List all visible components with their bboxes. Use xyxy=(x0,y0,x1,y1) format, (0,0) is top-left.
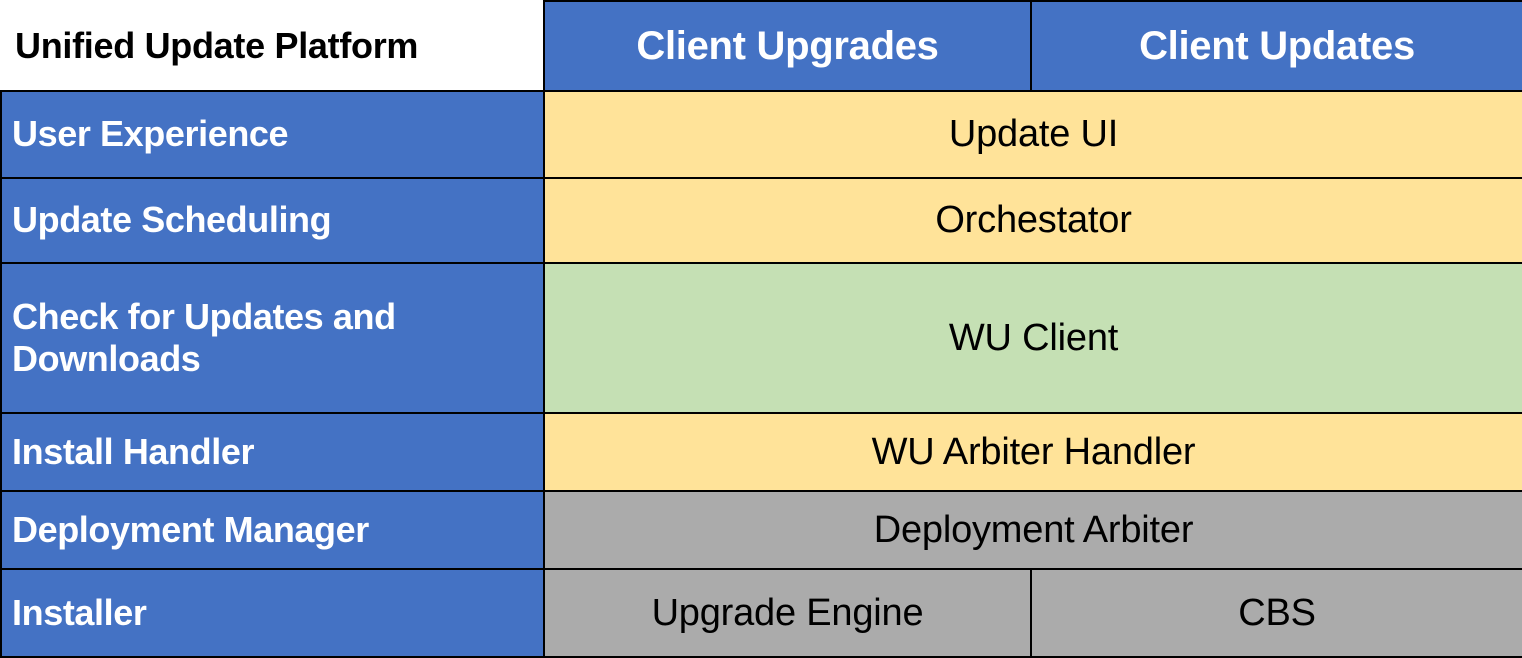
table-row: Check for Updates and Downloads WU Clien… xyxy=(1,263,1522,413)
table-row: Update Scheduling Orchestator xyxy=(1,178,1522,263)
cell-cbs: CBS xyxy=(1031,569,1522,657)
page-title: Unified Update Platform xyxy=(1,1,544,91)
unified-update-platform-table: Unified Update Platform Client Upgrades … xyxy=(0,0,1522,658)
row-label-update-scheduling: Update Scheduling xyxy=(1,178,544,263)
table-header-row: Unified Update Platform Client Upgrades … xyxy=(1,1,1522,91)
cell-wu-client: WU Client xyxy=(544,263,1522,413)
table-row: User Experience Update UI xyxy=(1,91,1522,178)
table-row: Installer Upgrade Engine CBS xyxy=(1,569,1522,657)
row-label-installer: Installer xyxy=(1,569,544,657)
cell-wu-arbiter-handler: WU Arbiter Handler xyxy=(544,413,1522,491)
row-label-check-for-updates-and-downloads: Check for Updates and Downloads xyxy=(1,263,544,413)
table-row: Install Handler WU Arbiter Handler xyxy=(1,413,1522,491)
row-label-install-handler: Install Handler xyxy=(1,413,544,491)
row-label-user-experience: User Experience xyxy=(1,91,544,178)
cell-orchestator: Orchestator xyxy=(544,178,1522,263)
table-row: Deployment Manager Deployment Arbiter xyxy=(1,491,1522,569)
row-label-deployment-manager: Deployment Manager xyxy=(1,491,544,569)
cell-update-ui: Update UI xyxy=(544,91,1522,178)
cell-deployment-arbiter: Deployment Arbiter xyxy=(544,491,1522,569)
column-header-client-upgrades: Client Upgrades xyxy=(544,1,1031,91)
column-header-client-updates: Client Updates xyxy=(1031,1,1522,91)
cell-upgrade-engine: Upgrade Engine xyxy=(544,569,1031,657)
